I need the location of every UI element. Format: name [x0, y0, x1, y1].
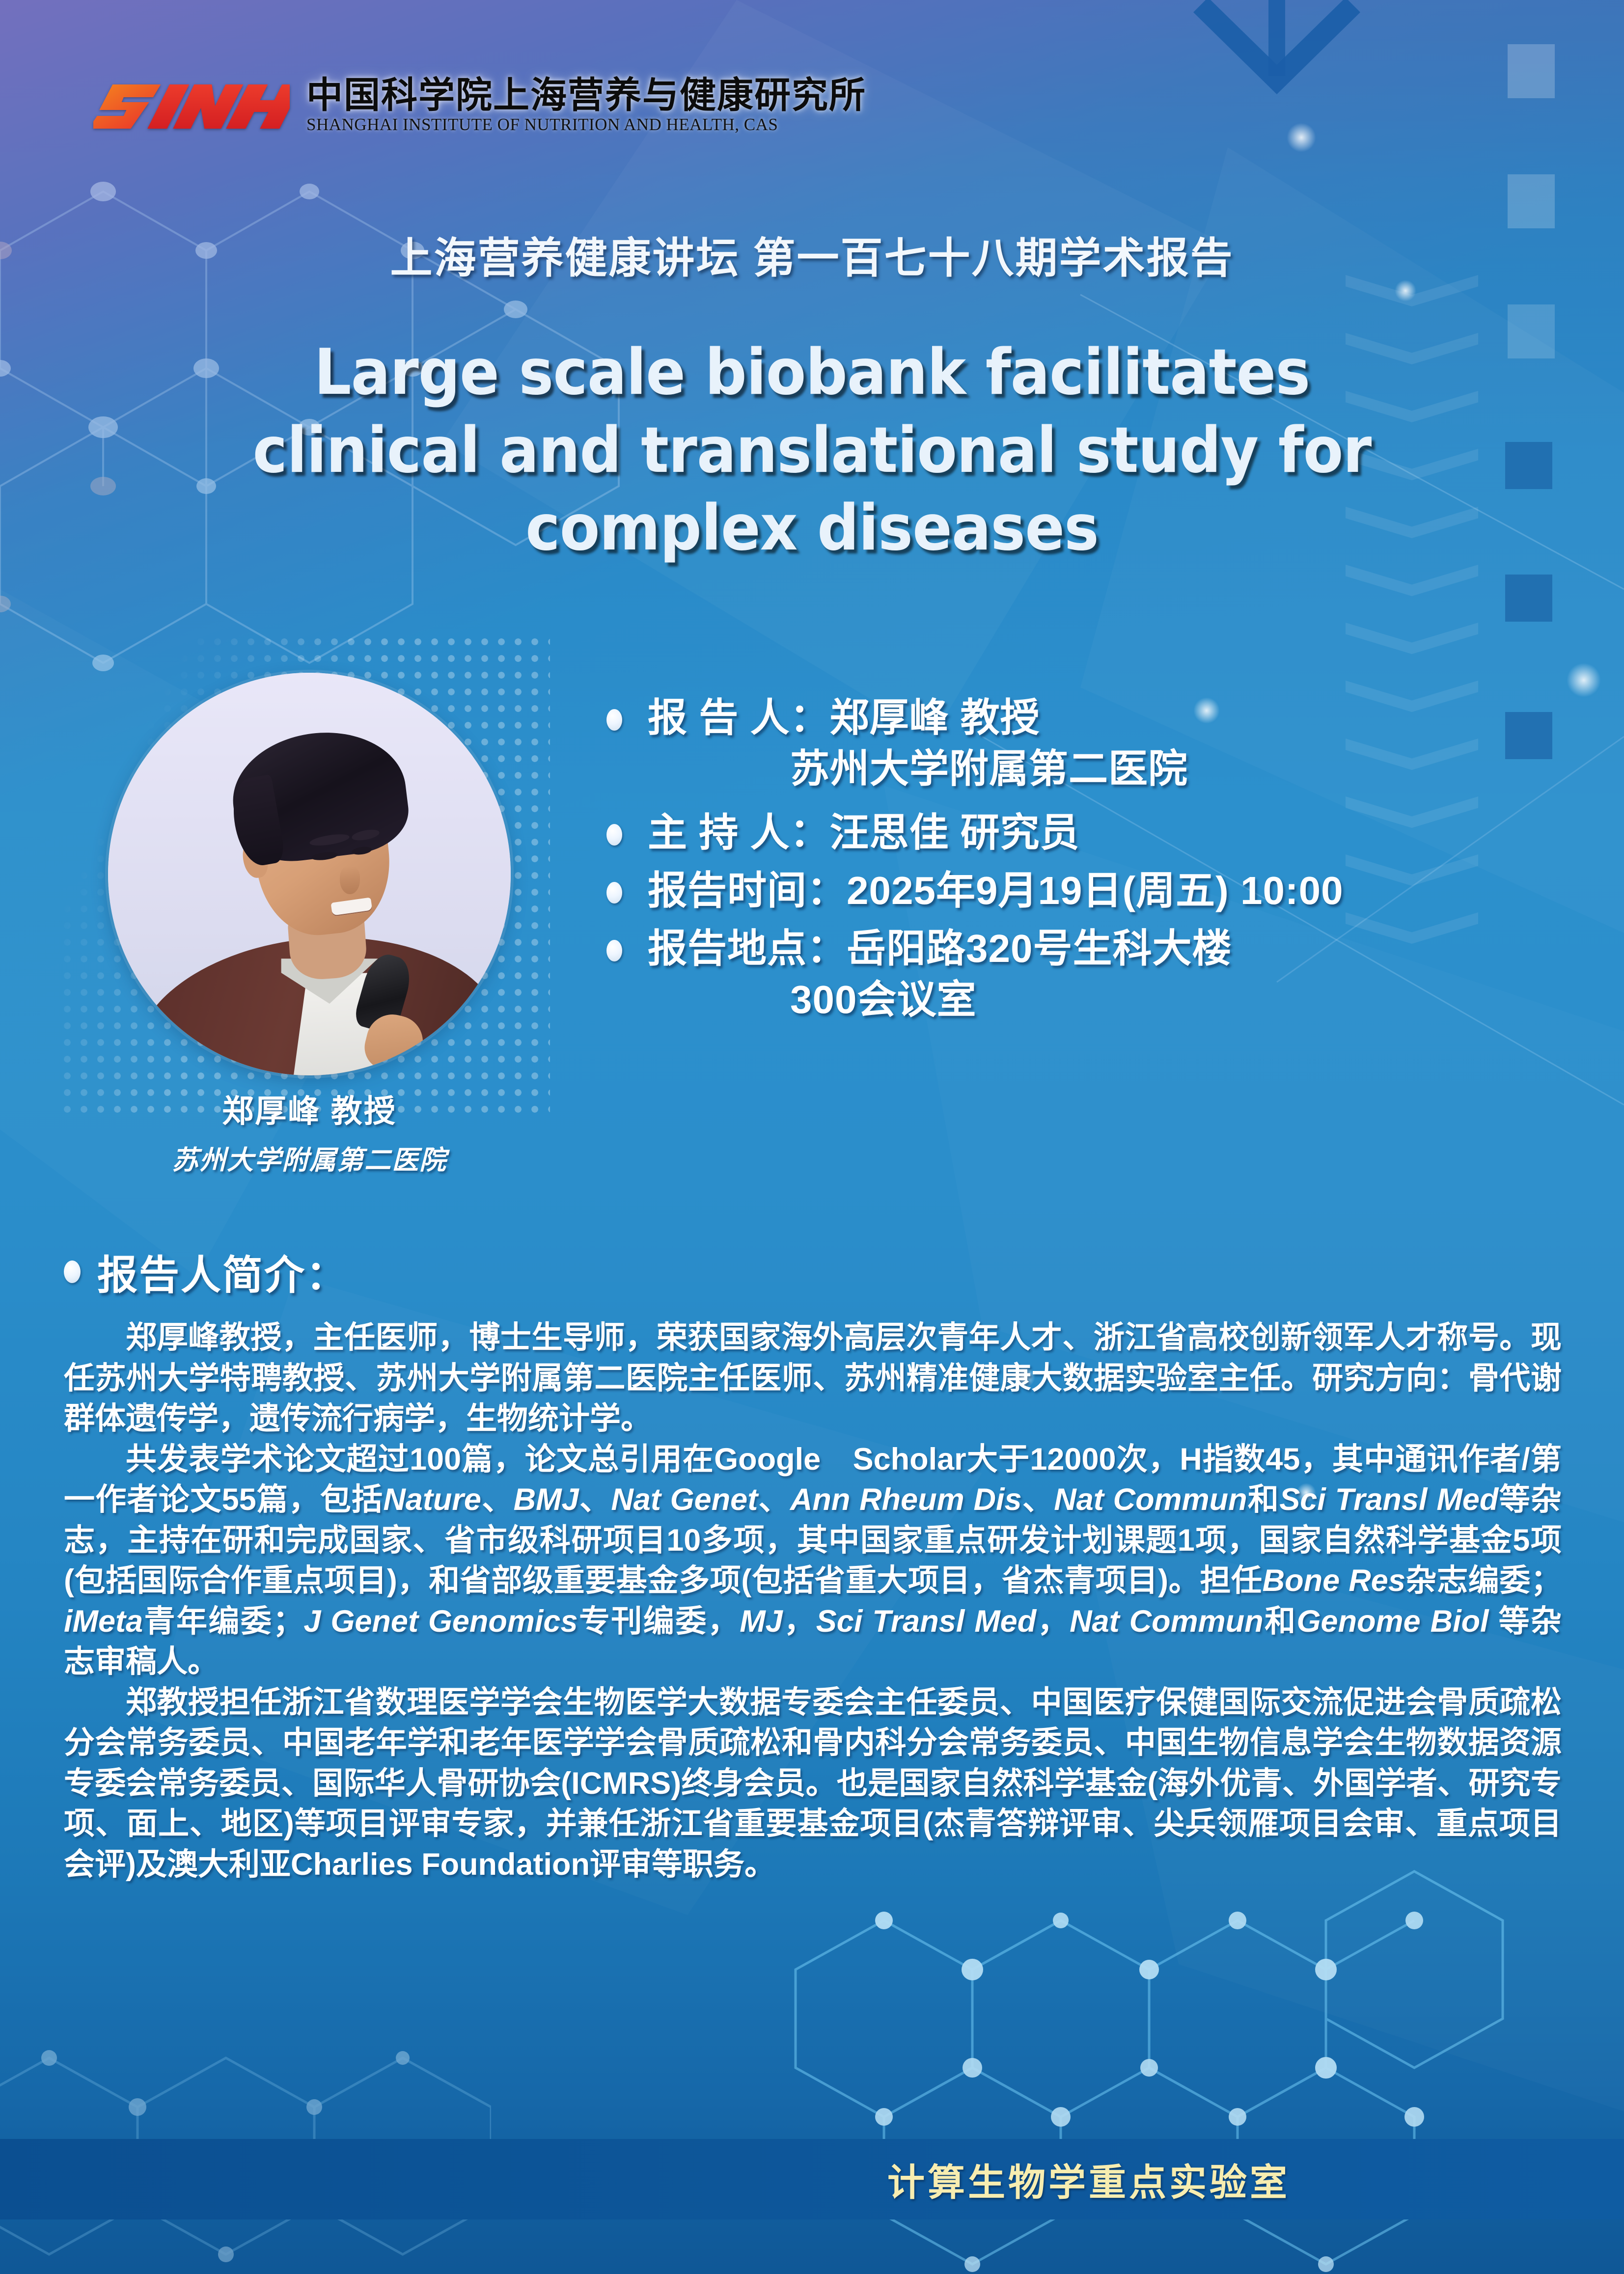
sep: 、 — [1022, 1482, 1054, 1517]
poster-canvas: 中国科学院上海营养与健康研究所 SHANGHAI INSTITUTE OF NU… — [0, 0, 1624, 2274]
decor-square — [1505, 575, 1552, 622]
bio-paragraph-2: 共发表学术论文超过100篇，论文总引用在Google Scholar大于1200… — [64, 1439, 1562, 1682]
sparkle-decor — [1287, 123, 1316, 152]
speaker-line: 报 告 人：郑厚峰 教授 — [648, 692, 1040, 743]
decor-square — [1508, 174, 1555, 228]
time-line: 报告时间：2025年9月19日(周五) 10:00 — [648, 865, 1344, 916]
journal-genome-biol: Genome Biol — [1297, 1604, 1489, 1639]
place-line-2: 300会议室 — [648, 974, 1564, 1025]
journal-bone-res: Bone Res — [1263, 1563, 1405, 1598]
sep: ， — [783, 1604, 816, 1639]
bio-body: 郑厚峰教授，主任医师，博士生导师，荣获国家海外高层次青年人才、浙江省高校创新领军… — [64, 1317, 1562, 1885]
journal-nat-commun-2: Nat Commun — [1070, 1604, 1263, 1639]
sep: 专刊编委， — [578, 1604, 740, 1639]
footer-band: 计算生物学重点实验室 — [0, 2139, 1624, 2219]
sep: 杂志编委； — [1405, 1563, 1562, 1598]
place-line: 报告地点：岳阳路320号生科大楼 — [648, 923, 1232, 974]
bio-heading: 报告人简介： — [97, 1242, 348, 1301]
detail-row-host: 主 持 人：汪思佳 研究员 — [606, 807, 1564, 858]
sep: 和 — [1264, 1604, 1297, 1639]
speaker-portrait-image — [108, 673, 511, 1075]
detail-row-time: 报告时间：2025年9月19日(周五) 10:00 — [606, 865, 1564, 916]
caption-speaker-name: 郑厚峰 教授 — [96, 1086, 523, 1131]
institute-name-block: 中国科学院上海营养与健康研究所 SHANGHAI INSTITUTE OF NU… — [306, 77, 866, 134]
bio-paragraph-1: 郑厚峰教授，主任医师，博士生导师，荣获国家海外高层次青年人才、浙江省高校创新领军… — [64, 1317, 1562, 1439]
host-line: 主 持 人：汪思佳 研究员 — [648, 807, 1080, 858]
title-line-1: Large scale biobank facilitates — [57, 334, 1568, 412]
sep: 、 — [481, 1482, 514, 1517]
journal-imeta: iMeta — [64, 1604, 143, 1639]
bullet-icon — [606, 940, 622, 961]
sep: 青年编委； — [143, 1604, 303, 1639]
bullet-icon — [606, 882, 622, 904]
institute-name-en: SHANGHAI INSTITUTE OF NUTRITION AND HEAL… — [306, 115, 866, 135]
journal-mj: MJ — [740, 1604, 783, 1639]
sep: 、 — [579, 1482, 611, 1517]
speaker-affiliation-line: 苏州大学附属第二医院 — [648, 743, 1564, 795]
event-details-list: 报 告 人：郑厚峰 教授 苏州大学附属第二医院 主 持 人：汪思佳 研究员 报告… — [606, 692, 1564, 1025]
speaker-bio-section: 报告人简介： 郑厚峰教授，主任医师，博士生导师，荣获国家海外高层次青年人才、浙江… — [64, 1242, 1562, 1885]
institute-logo-bar: 中国科学院上海营养与健康研究所 SHANGHAI INSTITUTE OF NU… — [93, 74, 866, 137]
journal-j-genet-genomics: J Genet Genomics — [303, 1604, 578, 1639]
sinh-logo-icon — [93, 74, 290, 137]
bullet-icon — [64, 1260, 81, 1283]
journal-sci-transl-med: Sci Transl Med — [1279, 1482, 1498, 1517]
avatar — [108, 673, 511, 1075]
journal-nat-commun: Nat Commun — [1054, 1482, 1247, 1517]
bullet-icon — [606, 709, 622, 731]
caption-speaker-affiliation: 苏州大学附属第二医院 — [96, 1138, 523, 1177]
down-arrow-icon — [1188, 0, 1365, 108]
journal-nature: Nature — [383, 1482, 481, 1517]
speaker-photo-block: 郑厚峰 教授 苏州大学附属第二医院 — [96, 673, 523, 1177]
journal-ann-rheum-dis: Ann Rheum Dis — [790, 1482, 1022, 1517]
bio-paragraph-3: 郑教授担任浙江省数理医学学会生物医学大数据专委会主任委员、中国医疗保健国际交流促… — [64, 1682, 1562, 1885]
title-line-2: clinical and translational study for — [57, 412, 1568, 490]
lecture-series-line: 上海营养健康讲坛 第一百七十八期学术报告 — [0, 223, 1624, 285]
journal-nat-genet: Nat Genet — [611, 1482, 758, 1517]
sep: 、 — [758, 1482, 790, 1517]
bullet-icon — [606, 824, 622, 846]
detail-row-speaker: 报 告 人：郑厚峰 教授 — [606, 692, 1564, 743]
title-line-3: complex diseases — [57, 490, 1568, 568]
speaker-photo-caption: 郑厚峰 教授 苏州大学附属第二医院 — [96, 1086, 523, 1177]
sparkle-decor — [1567, 663, 1601, 697]
detail-row-place: 报告地点：岳阳路320号生科大楼 — [606, 923, 1564, 974]
institute-name-cn: 中国科学院上海营养与健康研究所 — [306, 77, 866, 113]
sep: 和 — [1247, 1482, 1280, 1517]
page-title: Large scale biobank facilitates clinical… — [57, 334, 1568, 568]
decor-square — [1508, 44, 1555, 98]
footer-lab-name: 计算生物学重点实验室 — [887, 2152, 1290, 2206]
journal-bmj: BMJ — [514, 1482, 579, 1517]
bio-heading-row: 报告人简介： — [64, 1242, 1562, 1301]
journal-sci-transl-med-2: Sci Transl Med — [816, 1604, 1036, 1639]
sep: ， — [1036, 1604, 1070, 1639]
